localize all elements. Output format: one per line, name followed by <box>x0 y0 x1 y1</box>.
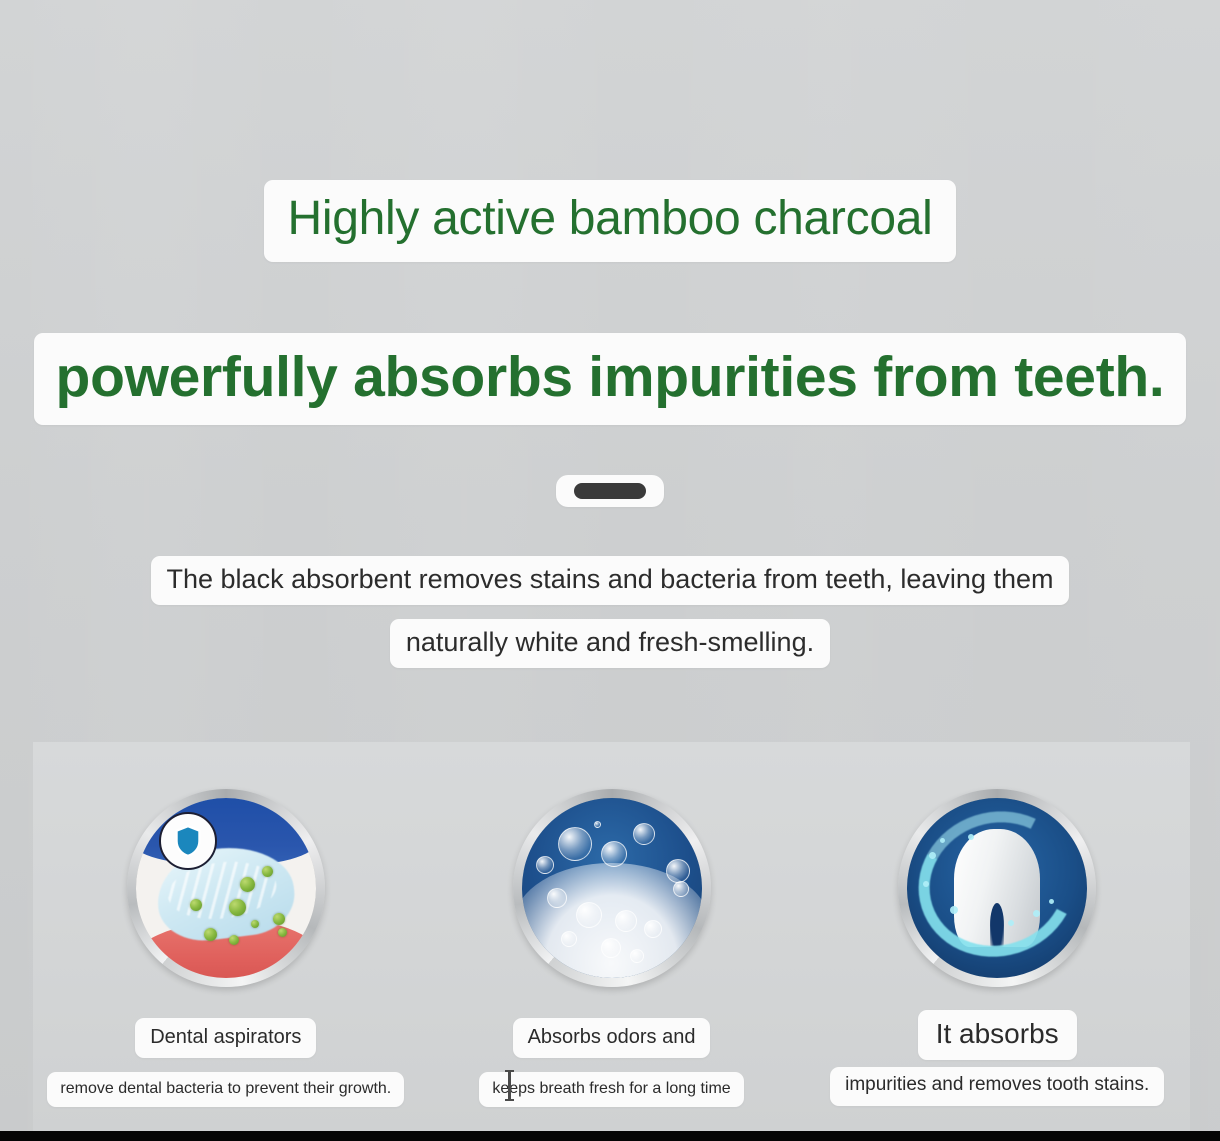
headline-secondary: powerfully absorbs impurities from teeth… <box>34 333 1187 425</box>
tooth-water-splash-icon <box>907 798 1087 978</box>
caption-title-row: Absorbs odors and <box>419 1018 805 1058</box>
feature-subtitle: remove dental bacteria to prevent their … <box>47 1072 404 1107</box>
body-line-1-row: The black absorbent removes stains and b… <box>0 556 1220 605</box>
feature-title: Absorbs odors and <box>513 1018 711 1058</box>
caption-title-row: Dental aspirators <box>33 1018 419 1058</box>
feature-subtitle: impurities and removes tooth stains. <box>830 1067 1164 1106</box>
body-text-line-2: naturally white and fresh-smelling. <box>390 619 830 668</box>
feature-subtitle: keeps breath fresh for a long time <box>479 1072 743 1107</box>
feature-title: Dental aspirators <box>135 1018 316 1058</box>
caption-title-row: It absorbs <box>804 1010 1190 1060</box>
headline-1-row: Highly active bamboo charcoal <box>0 180 1220 262</box>
caption-sub-row: keeps breath fresh for a long time <box>419 1072 805 1107</box>
feature-image-frame <box>127 789 325 987</box>
feature-panel: Dental aspirators remove dental bacteria… <box>33 742 1190 1132</box>
feature-image-frame <box>513 789 711 987</box>
feature-column-it-absorbs[interactable]: It absorbs impurities and removes tooth … <box>804 742 1190 1132</box>
pill-divider-icon <box>556 475 664 507</box>
gum-bacteria-shield-icon <box>136 798 316 978</box>
divider-bar <box>574 483 646 499</box>
feature-column-absorbs-odors[interactable]: Absorbs odors and keeps breath fresh for… <box>419 742 805 1132</box>
bottom-strip <box>0 1131 1220 1141</box>
body-text-line-1: The black absorbent removes stains and b… <box>151 556 1070 605</box>
headline-primary: Highly active bamboo charcoal <box>264 180 957 262</box>
body-line-2-row: naturally white and fresh-smelling. <box>0 619 1220 668</box>
feature-title: It absorbs <box>918 1010 1077 1060</box>
caption-sub-row: impurities and removes tooth stains. <box>804 1067 1190 1106</box>
text-cursor <box>508 1070 511 1101</box>
divider-row <box>0 475 1220 507</box>
headline-2-row: powerfully absorbs impurities from teeth… <box>0 333 1220 425</box>
foam-bubbles-icon <box>522 798 702 978</box>
feature-column-dental-aspirators[interactable]: Dental aspirators remove dental bacteria… <box>33 742 419 1132</box>
feature-image-frame <box>898 789 1096 987</box>
caption-sub-row: remove dental bacteria to prevent their … <box>33 1072 419 1107</box>
feature-grid: Dental aspirators remove dental bacteria… <box>33 742 1190 1132</box>
